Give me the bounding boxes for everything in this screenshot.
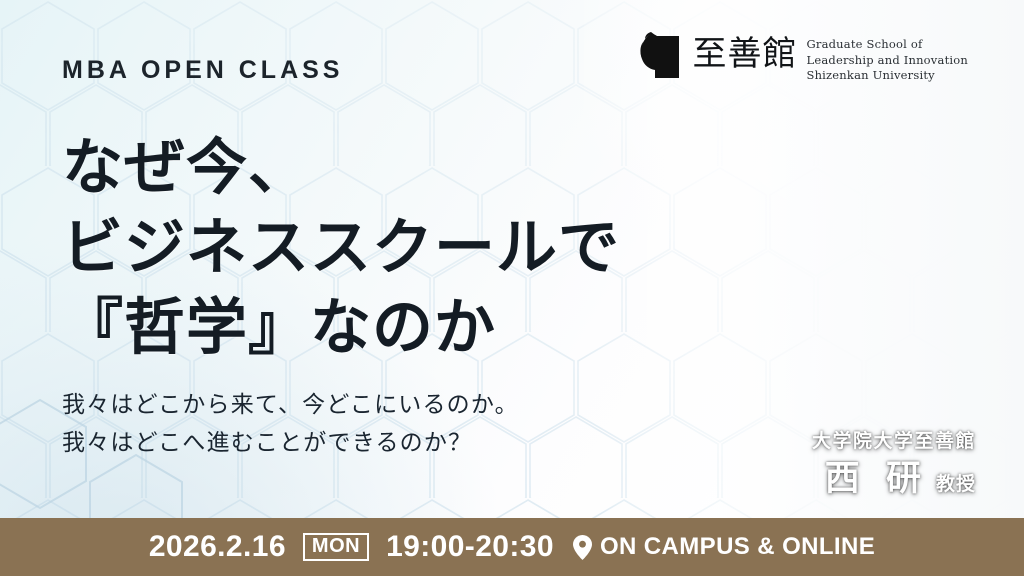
event-time: 19:00-20:30 bbox=[386, 530, 554, 564]
speaker-name: 西 研 bbox=[825, 458, 928, 500]
poster-canvas: MBA OPEN CLASS 至善館 Graduate School of Le… bbox=[0, 0, 1024, 576]
logo-japanese-name: 至善館 bbox=[692, 34, 797, 74]
shizenkan-brush-mark bbox=[637, 28, 683, 84]
page-title: なぜ今、 ビジネススクールで 『哲学』なのか bbox=[62, 128, 620, 368]
event-day-of-week: MON bbox=[303, 533, 369, 561]
speaker-caption: 大学院大学至善館 西 研 教授 bbox=[812, 428, 976, 500]
event-details-bar: 2026.2.16 MON 19:00-20:30 ON CAMPUS & ON… bbox=[0, 518, 1024, 576]
speaker-rank: 教授 bbox=[936, 469, 976, 496]
speaker-affiliation: 大学院大学至善館 bbox=[812, 428, 976, 454]
logo-english-name: Graduate School of Leadership and Innova… bbox=[806, 37, 968, 84]
lead-copy: 我々はどこから来て、今どこにいるのか。 我々はどこへ進むことができるのか？ bbox=[62, 386, 519, 462]
event-date: 2026.2.16 bbox=[149, 530, 286, 564]
event-venue: ON CAMPUS & ONLINE bbox=[600, 533, 875, 561]
page-eyebrow: MBA OPEN CLASS bbox=[62, 56, 343, 85]
location-pin-icon bbox=[573, 535, 592, 560]
shizenkan-logo[interactable]: 至善館 Graduate School of Leadership and In… bbox=[637, 28, 968, 84]
